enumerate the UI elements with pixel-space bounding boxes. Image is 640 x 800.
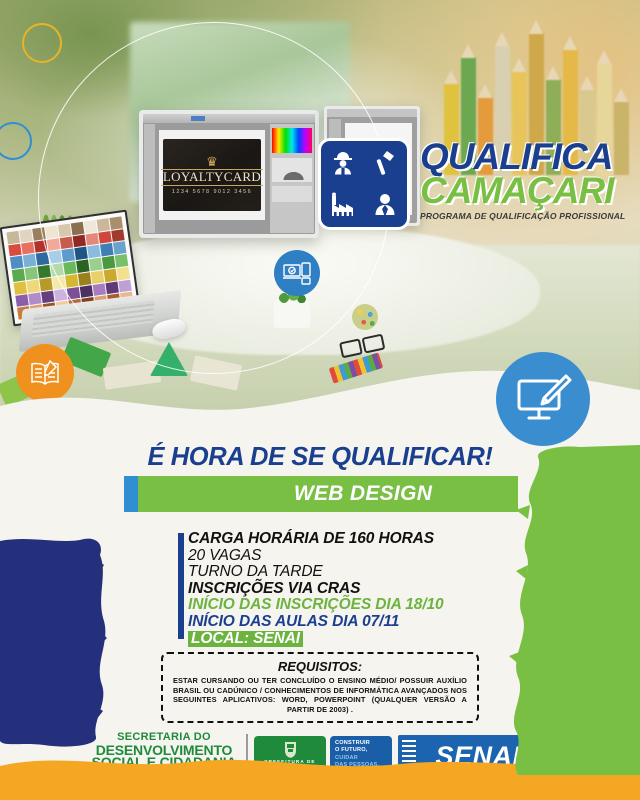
page-headline: É HORA DE SE QUALIFICAR! [0, 443, 640, 472]
logo-line-qualifica: QUALIFICA [420, 140, 625, 174]
decorative-circle-yellow [22, 23, 62, 63]
decorative-ball [352, 304, 378, 330]
detail-line: 20 VAGAS [188, 548, 518, 565]
logo-tagline: PROGRAMA DE QUALIFICAÇÃO PROFISSIONAL [420, 211, 625, 221]
requirements-box: REQUISITOS: ESTAR CURSANDO OU TER CONCLU… [161, 652, 479, 723]
detail-line: INÍCIO DAS INSCRIÇÕES DIA 18/10 [188, 597, 518, 614]
detail-line: LOCAL: SENAI [188, 631, 518, 648]
monitor-paintbrush-icon [496, 352, 590, 446]
logo-icon-grid [318, 138, 410, 230]
course-name: WEB DESIGN [294, 482, 432, 506]
course-details: CARGA HORÁRIA DE 160 HORAS 20 VAGAS TURN… [188, 531, 518, 647]
requirements-title: REQUISITOS: [173, 659, 467, 674]
detail-line: INSCRIÇÕES VIA CRAS [188, 581, 518, 598]
paint-stroke-right [500, 445, 640, 775]
course-banner-body: WEB DESIGN [138, 476, 518, 512]
logo-wordmark: QUALIFICA CAMAÇARI PROGRAMA DE QUALIFICA… [420, 138, 625, 221]
detail-line: CARGA HORÁRIA DE 160 HORAS [188, 531, 518, 548]
paint-stroke-left [0, 535, 112, 750]
devices-check-icon [274, 250, 320, 296]
details-accent-bar [178, 533, 184, 639]
course-banner-accent [124, 476, 138, 512]
detail-line: TURNO DA TARDE [188, 564, 518, 581]
hammer-icon [366, 144, 405, 183]
qualifica-camacari-logo: QUALIFICA CAMAÇARI PROGRAMA DE QUALIFICA… [318, 138, 625, 230]
course-banner: WEB DESIGN [124, 476, 518, 512]
office-worker-icon [366, 186, 405, 225]
logo-line-camacari: CAMAÇARI [420, 174, 625, 208]
detail-line: INÍCIO DAS AULAS DIA 07/11 [188, 614, 518, 631]
worker-helmet-icon [324, 144, 363, 183]
poster: ♛ LOYALTYCARD 1234 5678 9012 3456 [0, 0, 640, 800]
factory-icon [324, 186, 363, 225]
requirements-text: ESTAR CURSANDO OU TER CONCLUÍDO O ENSINO… [173, 676, 467, 714]
